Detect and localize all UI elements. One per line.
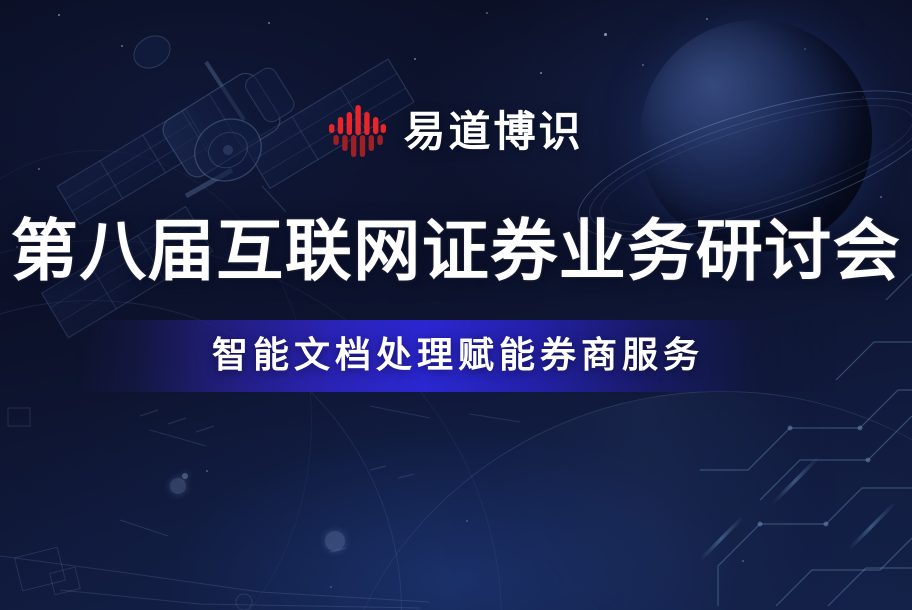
schematic-marks — [0, 406, 520, 610]
orbit-curve — [0, 240, 502, 610]
conference-poster: 易道博识 第八届互联网证券业务研讨会 智能文档处理赋能券商服务 — [0, 0, 912, 610]
page-title: 第八届互联网证券业务研讨会 — [0, 216, 912, 287]
orbit-node — [325, 531, 345, 551]
circuit-highlights — [700, 458, 894, 560]
eyoudobo-waveform-logo-icon — [328, 103, 386, 161]
subtitle-text: 智能文档处理赋能券商服务 — [208, 338, 704, 374]
space-tech-illustration — [0, 0, 912, 610]
data-ticks — [140, 410, 414, 552]
circuit-nodes — [758, 426, 871, 527]
background-decorations — [0, 0, 912, 610]
satellite-icon — [42, 30, 414, 338]
brand-name: 易道博识 — [403, 111, 583, 153]
subtitle-banner: 智能文档处理赋能券商服务 — [76, 320, 836, 392]
brand-lockup: 易道博识 — [0, 96, 912, 168]
orbit-node — [182, 473, 188, 479]
orbit-node — [170, 478, 186, 494]
